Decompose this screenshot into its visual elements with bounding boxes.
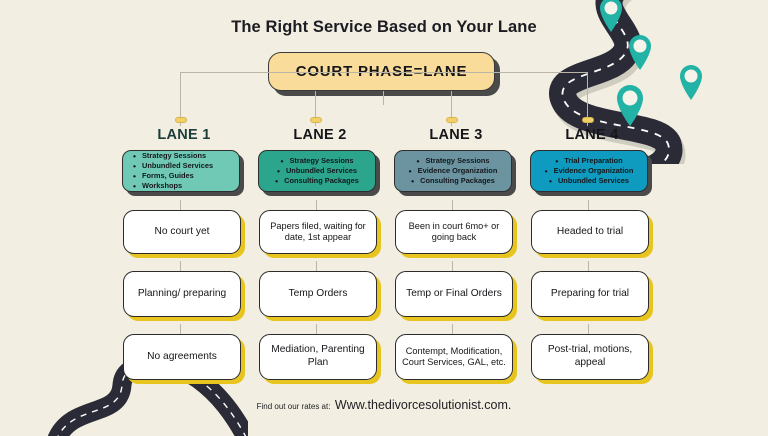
lane-1-service-item: Workshops [133,181,235,191]
lane-1-step-1: No court yet [123,210,245,254]
lane-2-services-box: Strategy Sessions Unbundled Services Con… [258,150,376,192]
lane-column-4: LANE 4 Trial Preparation Evidence Organi… [530,126,654,380]
lane-2-step-3: Mediation, Parenting Plan [259,334,381,380]
lane-1-service-item: Forms, Guides [133,171,235,181]
map-pin-icon-2 [629,35,651,70]
lane-3-step-3-label: Contempt, Modification, Court Services, … [395,334,513,380]
lane-3-step-2-label: Temp or Final Orders [395,271,513,317]
connector-pill-down [383,91,384,105]
lane-4-service-item: Evidence Organization [545,166,634,176]
lane-column-2: LANE 2 Strategy Sessions Unbundled Servi… [258,126,382,380]
lane-1-step-2-label: Planning/ preparing [123,271,241,317]
lane-2-step-2-label: Temp Orders [259,271,377,317]
lane-3-service-item: Strategy Sessions [416,156,489,166]
connector-node-lane-4 [582,117,594,123]
map-pin-icon-4 [617,85,643,126]
lane-4-title: LANE 4 [530,126,654,146]
lane-4-services-box: Trial Preparation Evidence Organization … [530,150,648,192]
lane-1-step-1-label: No court yet [123,210,241,254]
lane-1-services: Strategy Sessions Unbundled Services For… [122,150,246,196]
infographic-canvas: The Right Service Based on Your Lane COU… [0,0,768,432]
lane-2-step-2: Temp Orders [259,271,381,317]
lane-4-step-1: Headed to trial [531,210,653,254]
lane-2-title: LANE 2 [258,126,382,146]
page-title: The Right Service Based on Your Lane [0,18,768,37]
lane-2-service-item: Strategy Sessions [280,156,353,166]
lane-3-services: Strategy Sessions Evidence Organization … [394,150,518,196]
lane-4-service-item: Trial Preparation [555,156,622,166]
lane-1-step-2: Planning/ preparing [123,271,245,317]
lane-1-title: LANE 1 [122,126,246,146]
lane-3-services-box: Strategy Sessions Evidence Organization … [394,150,512,192]
lane-1-services-box: Strategy Sessions Unbundled Services For… [122,150,240,192]
footer-url[interactable]: Www.thedivorcesolutionist.com. [335,398,511,412]
lane-4-step-1-label: Headed to trial [531,210,649,254]
lane-column-1: LANE 1 Strategy Sessions Unbundled Servi… [122,126,246,380]
lane-1-service-item: Unbundled Services [133,161,235,171]
connector-node-lane-3 [446,117,458,123]
lane-4-step-2-label: Preparing for trial [531,271,649,317]
lane-2-service-item: Consulting Packages [275,176,359,186]
lane-3-service-item: Evidence Organization [409,166,498,176]
lane-2-step-1-label: Papers filed, waiting for date, 1st appe… [259,210,377,254]
lane-1-step-3-label: No agreements [123,334,241,380]
lane-4-service-item: Unbundled Services [549,176,629,186]
lane-3-step-2: Temp or Final Orders [395,271,517,317]
connector-horizontal-bus [180,72,587,73]
lane-2-step-3-label: Mediation, Parenting Plan [259,334,377,380]
lane-2-services: Strategy Sessions Unbundled Services Con… [258,150,382,196]
lane-2-step-1: Papers filed, waiting for date, 1st appe… [259,210,381,254]
lane-3-title: LANE 3 [394,126,518,146]
lane-4-services: Trial Preparation Evidence Organization … [530,150,654,196]
lane-3-step-1-label: Been in court 6mo+ or going back [395,210,513,254]
map-pin-icon-3 [680,65,702,100]
lane-4-step-3-label: Post-trial, motions, appeal [531,334,649,380]
lane-4-step-3: Post-trial, motions, appeal [531,334,653,380]
lane-3-step-1: Been in court 6mo+ or going back [395,210,517,254]
footer: Find out our rates at: Www.thedivorcesol… [0,396,768,414]
connector-node-lane-1 [175,117,187,123]
lane-column-3: LANE 3 Strategy Sessions Evidence Organi… [394,126,518,380]
lane-1-service-item: Strategy Sessions [133,151,235,161]
lane-1-step-3: No agreements [123,334,245,380]
connector-node-lane-2 [310,117,322,123]
lane-3-step-3: Contempt, Modification, Court Services, … [395,334,517,380]
lane-3-service-item: Consulting Packages [411,176,495,186]
court-phase-node: COURT PHASE=LANE [268,52,500,96]
lane-2-service-item: Unbundled Services [277,166,357,176]
lane-4-step-2: Preparing for trial [531,271,653,317]
footer-label: Find out our rates at: [257,402,331,411]
